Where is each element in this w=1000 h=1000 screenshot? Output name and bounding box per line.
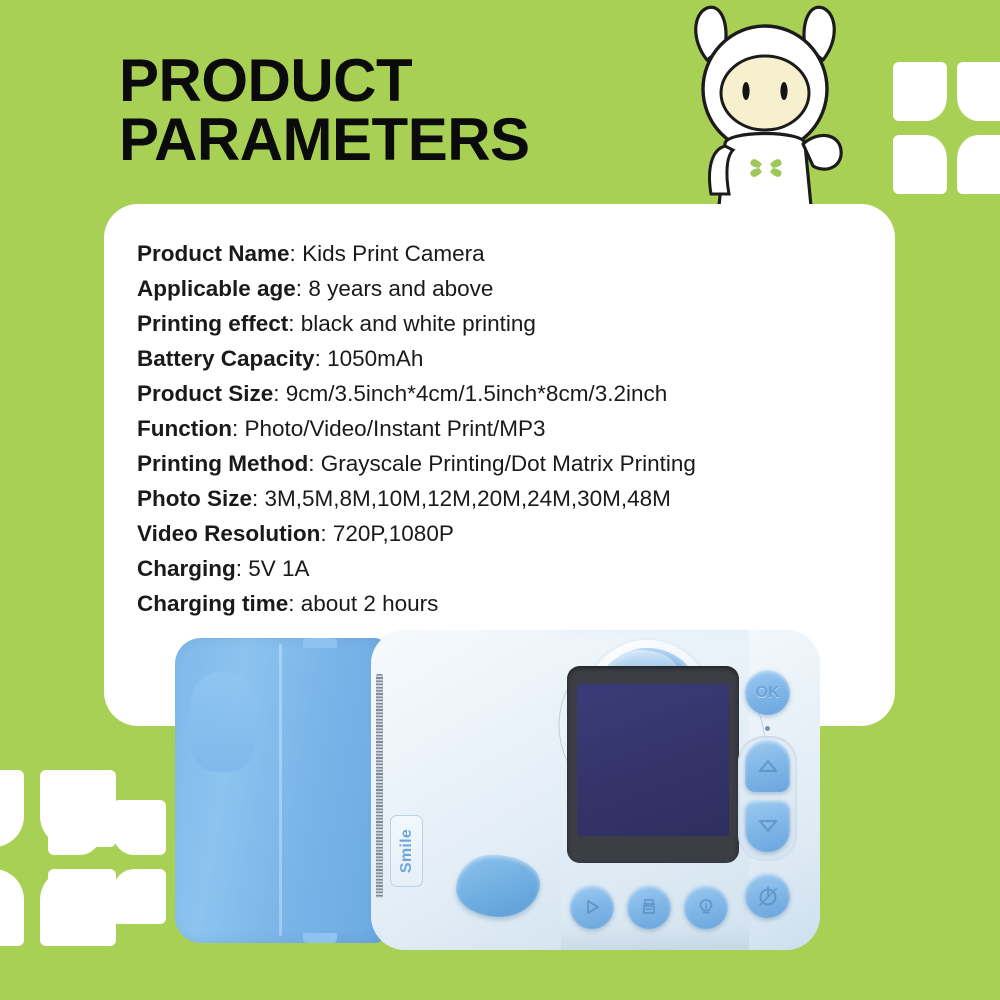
printer-grip	[191, 672, 255, 772]
printer-compartment	[175, 638, 385, 943]
spec-row: Charging: 5V 1A	[137, 551, 877, 586]
spec-separator: :	[296, 276, 309, 301]
spec-row: Product Name: Kids Print Camera	[137, 236, 877, 271]
spec-row: Product Size: 9cm/3.5inch*4cm/1.5inch*8c…	[137, 376, 877, 411]
spec-value: Photo/Video/Instant Print/MP3	[245, 416, 546, 441]
spec-separator: :	[236, 556, 249, 581]
spec-value: Kids Print Camera	[302, 241, 485, 266]
spec-separator: :	[320, 521, 333, 546]
spec-key: Applicable age	[137, 276, 296, 301]
spec-key: Charging time	[137, 591, 288, 616]
down-arrow-icon	[758, 819, 778, 833]
spec-row: Video Resolution: 720P,1080P	[137, 516, 877, 551]
ok-button[interactable]: OK	[745, 670, 790, 715]
power-button[interactable]	[745, 873, 790, 918]
printer-tab-top	[303, 638, 337, 648]
spec-row: Function: Photo/Video/Instant Print/MP3	[137, 411, 877, 446]
spec-row: Applicable age: 8 years and above	[137, 271, 877, 306]
power-icon	[757, 885, 779, 907]
spec-key: Product Size	[137, 381, 273, 406]
mascot-eye-left	[742, 82, 749, 100]
spec-row: Printing Method: Grayscale Printing/Dot …	[137, 446, 877, 481]
mascot-eye-right	[780, 82, 787, 100]
spec-value: Grayscale Printing/Dot Matrix Printing	[321, 451, 696, 476]
ok-button-label: OK	[756, 684, 780, 702]
spec-separator: :	[288, 591, 301, 616]
lightbulb-icon	[695, 896, 717, 918]
spec-value: black and white printing	[301, 311, 536, 336]
print-button[interactable]	[627, 885, 671, 929]
spec-key: Printing Method	[137, 451, 308, 476]
printer-seam	[279, 644, 282, 936]
spec-key: Video Resolution	[137, 521, 320, 546]
spec-separator: :	[315, 346, 328, 371]
play-icon	[582, 897, 602, 917]
print-icon	[638, 896, 660, 918]
x-petal	[113, 869, 166, 924]
x-decoration-bottom-left-small	[48, 800, 166, 924]
printer-tab-bottom	[303, 933, 337, 943]
spec-key: Battery Capacity	[137, 346, 315, 371]
spec-row: Printing effect: black and white printin…	[137, 306, 877, 341]
spec-value: 1050mAh	[327, 346, 423, 371]
x-petal	[113, 800, 166, 855]
up-arrow-icon	[758, 759, 778, 773]
lcd-screen	[577, 684, 729, 836]
smile-badge-label: Smile	[398, 829, 416, 873]
x-decoration-top-right	[893, 62, 1000, 194]
spec-separator: :	[232, 416, 245, 441]
status-led-top	[765, 726, 770, 731]
x-petal	[0, 869, 24, 946]
spec-value: 8 years and above	[308, 276, 493, 301]
spec-separator: :	[308, 451, 321, 476]
spec-key: Product Name	[137, 241, 290, 266]
spec-value: 720P,1080P	[333, 521, 454, 546]
page-title-line1: PRODUCT	[119, 47, 412, 114]
spec-key: Charging	[137, 556, 236, 581]
x-petal	[957, 62, 1000, 121]
up-arrow-button[interactable]	[745, 740, 790, 792]
spec-separator: :	[290, 241, 303, 266]
product-image-kids-print-camera: Smile OK	[175, 630, 820, 950]
spec-list: Product Name: Kids Print Camera Applicab…	[137, 236, 877, 621]
x-petal	[893, 135, 947, 194]
infographic-canvas: PRODUCT PARAMETERS Product Name: Kids	[0, 0, 1000, 1000]
spec-separator: :	[273, 381, 286, 406]
down-arrow-button[interactable]	[745, 800, 790, 852]
spec-value: about 2 hours	[301, 591, 439, 616]
spec-key: Photo Size	[137, 486, 252, 511]
paper-tear-strip	[376, 674, 383, 898]
x-petal	[0, 770, 24, 847]
page-title-line2: PARAMETERS	[119, 111, 679, 170]
play-button[interactable]	[570, 885, 614, 929]
x-petal	[957, 135, 1000, 194]
x-petal	[48, 869, 101, 924]
spec-value: 9cm/3.5inch*4cm/1.5inch*8cm/3.2inch	[286, 381, 667, 406]
lightbulb-button[interactable]	[684, 885, 728, 929]
spec-separator: :	[252, 486, 265, 511]
bunny-mascot	[663, 0, 863, 206]
smile-badge: Smile	[390, 815, 423, 887]
spec-row: Photo Size: 3M,5M,8M,10M,12M,20M,24M,30M…	[137, 481, 877, 516]
spec-row: Charging time: about 2 hours	[137, 586, 877, 621]
spec-separator: :	[288, 311, 301, 336]
page-title: PRODUCT PARAMETERS	[119, 52, 679, 170]
spec-key: Printing effect	[137, 311, 288, 336]
x-petal	[893, 62, 947, 121]
spec-value: 5V 1A	[248, 556, 309, 581]
spec-value: 3M,5M,8M,10M,12M,20M,24M,30M,48M	[265, 486, 671, 511]
x-petal	[48, 800, 101, 855]
spec-row: Battery Capacity: 1050mAh	[137, 341, 877, 376]
spec-key: Function	[137, 416, 232, 441]
